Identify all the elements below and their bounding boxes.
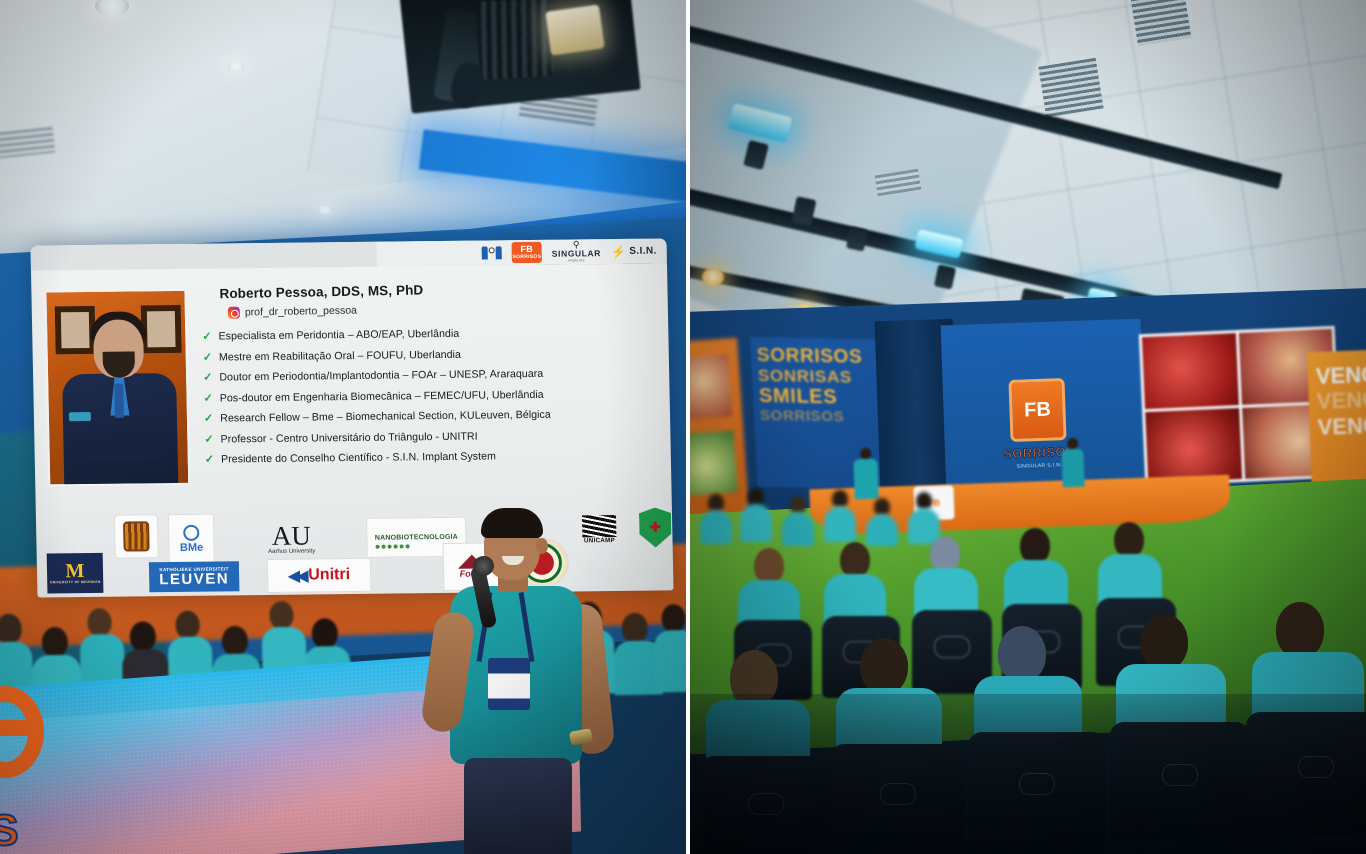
- list-item: ✓ Especialista em Peridontia – ABO/EAP, …: [202, 326, 660, 343]
- ceiling-vent-icon: [1038, 58, 1103, 118]
- ceiling-downlight-icon: [318, 206, 332, 214]
- list-item: ✓ Professor - Centro Universitário do Tr…: [204, 428, 662, 445]
- instagram-icon: [228, 307, 240, 319]
- list-item: ✓ Doutor em Periodontia/Implantodontia –…: [203, 366, 661, 383]
- check-icon: ✓: [203, 351, 212, 363]
- presenter-with-microphone: [418, 508, 628, 854]
- check-icon: ✓: [203, 372, 212, 384]
- singular-logo: ⚲ SINGULAR implants: [552, 241, 602, 263]
- left-photo: FBSORRISOS ⚲ SINGULAR implants ⚡ S.I.N.: [0, 0, 686, 854]
- check-icon: ✓: [204, 413, 213, 425]
- chevron-left-icon: ◀◀: [288, 567, 305, 585]
- sin-logo: ⚡ S.I.N.: [611, 244, 657, 259]
- check-icon: ✓: [205, 454, 214, 466]
- check-icon: ✓: [202, 331, 211, 343]
- page-title: Roberto Pessoa, DDS, MS, PhD: [219, 282, 423, 301]
- stage-light-icon: [545, 4, 605, 55]
- singular-logo-sub: implants: [568, 258, 585, 262]
- sin-lightning-icon: ⚡: [611, 244, 627, 258]
- list-item: ✓ Pos-doutor em Engenharia Biomecânica –…: [203, 387, 661, 404]
- list-item: ✓ Research Fellow – Bme – Biomechanical …: [204, 407, 662, 424]
- lanyard-badge: [488, 658, 530, 710]
- list-item: ✓ Mestre em Reabilitação Oral – FOUFU, U…: [203, 346, 661, 363]
- sorrisos-logo: FBSORRISOS: [512, 242, 542, 263]
- foreground-shadow: [690, 694, 1366, 854]
- ufu-shield-logo: [114, 514, 159, 558]
- surgical-closeup-1: [1142, 333, 1239, 409]
- soccer-players-icon: [482, 246, 502, 259]
- instagram-handle: prof_dr_roberto_pessoa: [228, 304, 357, 318]
- ku-leuven-logo: KATHOLIEKE UNIVERSITEIT LEUVEN: [149, 561, 240, 592]
- speaker-portrait-photo: [44, 289, 190, 487]
- instagram-handle-text: prof_dr_roberto_pessoa: [245, 304, 357, 318]
- sin-logo-label: S.I.N.: [629, 246, 657, 257]
- aarhus-university-logo: AU Aarhus University: [252, 512, 331, 565]
- photo-collage: FBSORRISOS ⚲ SINGULAR implants ⚡ S.I.N.: [0, 0, 1366, 854]
- credentials-list: ✓ Especialista em Peridontia – ABO/EAP, …: [202, 326, 663, 475]
- right-photo: SORRISOS SONRISAS SMILES SORRISOS FB SOR…: [690, 0, 1366, 854]
- crest-logo: ✚: [634, 504, 674, 550]
- bme-logo: BMe: [168, 514, 215, 565]
- ceiling-downlight-icon: [228, 62, 244, 71]
- slide-sponsor-logos: FBSORRISOS ⚲ SINGULAR implants ⚡ S.I.N.: [376, 238, 666, 266]
- singular-logo-label: SINGULAR: [552, 248, 601, 259]
- check-icon: ✓: [204, 433, 213, 445]
- warm-stage-light-icon: [702, 268, 724, 286]
- sorrisos-banner-logo: DE OS: [0, 676, 84, 854]
- sorrisos-logo-label: SORRISOS: [512, 254, 542, 260]
- projector-unit: [476, 0, 554, 80]
- list-item: ✓ Presidente do Conselho Científico - S.…: [205, 448, 663, 465]
- university-of-michigan-logo: M UNIVERSITY OF MICHIGAN: [47, 553, 104, 594]
- check-icon: ✓: [203, 392, 212, 404]
